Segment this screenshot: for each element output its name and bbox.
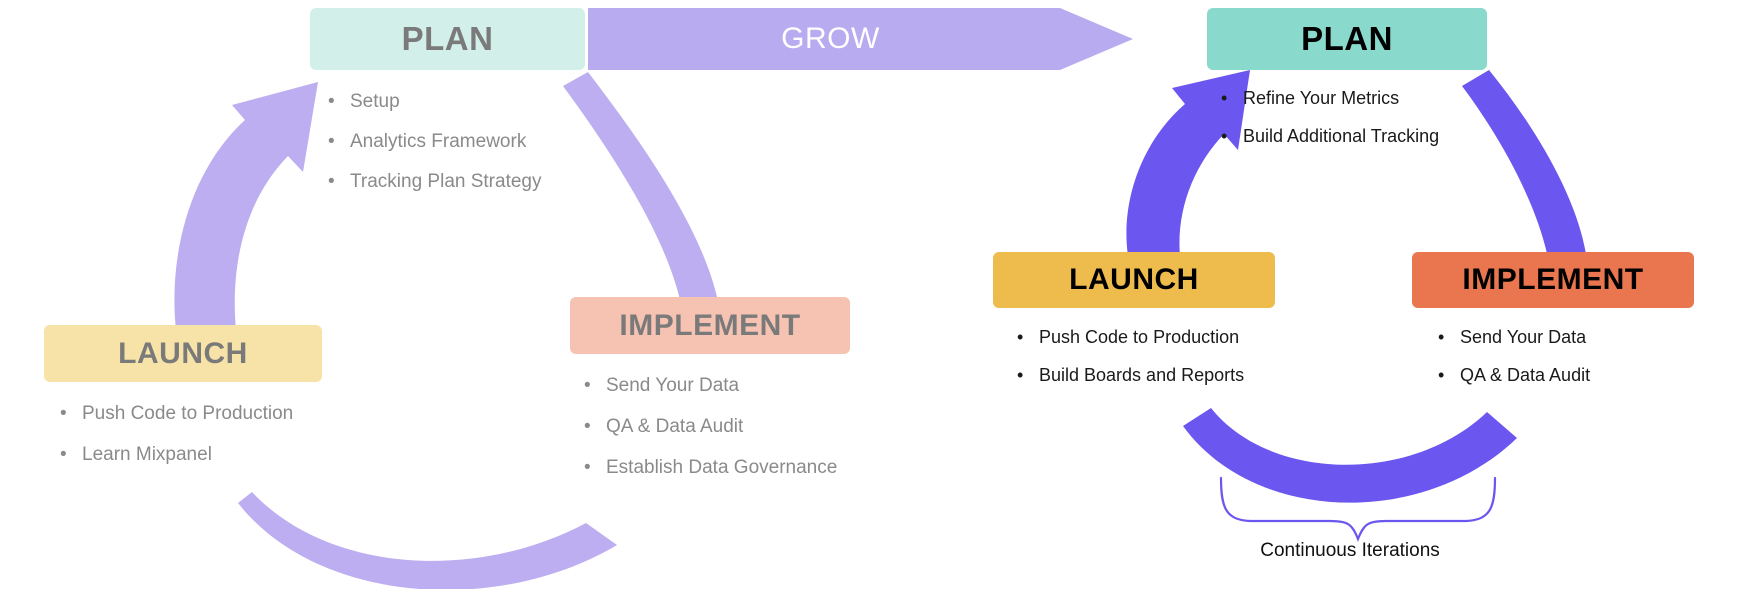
bullet-icon: • xyxy=(328,132,350,151)
bullet-icon: • xyxy=(1017,328,1039,346)
stage-plan-right-title: PLAN xyxy=(1207,8,1487,70)
list-item-label: Establish Data Governance xyxy=(606,458,837,477)
bullet-icon: • xyxy=(584,458,606,477)
list-item: • Send Your Data xyxy=(1438,328,1694,346)
bullet-icon: • xyxy=(1438,366,1460,384)
arrow-implement-to-launch-right xyxy=(1183,408,1517,503)
list-item: • Build Boards and Reports xyxy=(1017,366,1275,384)
list-item-label: Build Additional Tracking xyxy=(1243,127,1439,145)
list-item-label: Push Code to Production xyxy=(82,404,293,423)
grow-banner: GROW xyxy=(588,8,1133,70)
stage-launch-right-title: LAUNCH xyxy=(993,252,1275,308)
list-item: • Establish Data Governance xyxy=(584,458,850,477)
stage-plan-right-list: • Refine Your Metrics • Build Additional… xyxy=(1207,89,1487,145)
bullet-icon: • xyxy=(60,445,82,464)
arrow-implement-to-launch-left xyxy=(238,492,617,589)
stage-launch-left[interactable]: LAUNCH • Push Code to Production • Learn… xyxy=(44,325,322,486)
grow-label: GROW xyxy=(588,8,1073,70)
list-item-label: Learn Mixpanel xyxy=(82,445,212,464)
bullet-icon: • xyxy=(1438,328,1460,346)
bullet-icon: • xyxy=(60,404,82,423)
list-item-label: QA & Data Audit xyxy=(606,417,743,436)
list-item-label: Build Boards and Reports xyxy=(1039,366,1244,384)
bullet-icon: • xyxy=(584,376,606,395)
list-item: • Learn Mixpanel xyxy=(60,445,322,464)
bullet-icon: • xyxy=(1221,127,1243,145)
list-item-label: QA & Data Audit xyxy=(1460,366,1590,384)
list-item-label: Setup xyxy=(350,92,400,111)
continuous-iterations-brace xyxy=(1221,478,1495,539)
stage-implement-left-list: • Send Your Data • QA & Data Audit • Est… xyxy=(570,376,850,477)
stage-launch-left-list: • Push Code to Production • Learn Mixpan… xyxy=(44,404,322,464)
stage-plan-left[interactable]: PLAN • Setup • Analytics Framework • Tra… xyxy=(310,8,585,212)
stage-implement-left[interactable]: IMPLEMENT • Send Your Data • QA & Data A… xyxy=(570,297,850,499)
list-item: • Build Additional Tracking xyxy=(1221,127,1487,145)
stage-plan-right[interactable]: PLAN • Refine Your Metrics • Build Addit… xyxy=(1207,8,1487,165)
list-item: • Push Code to Production xyxy=(60,404,322,423)
bullet-icon: • xyxy=(1017,366,1039,384)
diagram-canvas: GROW PLAN • Setup • Analytics Framework … xyxy=(0,0,1740,589)
stage-launch-right-list: • Push Code to Production • Build Boards… xyxy=(993,328,1275,384)
stage-launch-right[interactable]: LAUNCH • Push Code to Production • Build… xyxy=(993,252,1275,404)
list-item: • Refine Your Metrics xyxy=(1221,89,1487,107)
bullet-icon: • xyxy=(584,417,606,436)
arrow-plan-to-implement-left xyxy=(563,72,717,300)
continuous-iterations-label: Continuous Iterations xyxy=(1150,540,1550,562)
list-item-label: Send Your Data xyxy=(1460,328,1586,346)
bullet-icon: • xyxy=(328,92,350,111)
list-item: • Tracking Plan Strategy xyxy=(328,172,585,191)
stage-implement-right-list: • Send Your Data • QA & Data Audit xyxy=(1412,328,1694,384)
stage-implement-right[interactable]: IMPLEMENT • Send Your Data • QA & Data A… xyxy=(1412,252,1694,404)
stage-implement-right-title: IMPLEMENT xyxy=(1412,252,1694,308)
list-item-label: Analytics Framework xyxy=(350,132,526,151)
list-item-label: Tracking Plan Strategy xyxy=(350,172,542,191)
list-item-label: Send Your Data xyxy=(606,376,739,395)
list-item-label: Push Code to Production xyxy=(1039,328,1239,346)
bullet-icon: • xyxy=(328,172,350,191)
stage-plan-left-list: • Setup • Analytics Framework • Tracking… xyxy=(310,92,585,191)
list-item: • Push Code to Production xyxy=(1017,328,1275,346)
bullet-icon: • xyxy=(1221,89,1243,107)
stage-implement-left-title: IMPLEMENT xyxy=(570,297,850,354)
list-item: • Send Your Data xyxy=(584,376,850,395)
stage-plan-left-title: PLAN xyxy=(310,8,585,70)
list-item: • QA & Data Audit xyxy=(584,417,850,436)
list-item-label: Refine Your Metrics xyxy=(1243,89,1399,107)
list-item: • QA & Data Audit xyxy=(1438,366,1694,384)
list-item: • Analytics Framework xyxy=(328,132,585,151)
stage-launch-left-title: LAUNCH xyxy=(44,325,322,382)
arrow-launch-to-plan-left xyxy=(174,82,318,330)
list-item: • Setup xyxy=(328,92,585,111)
